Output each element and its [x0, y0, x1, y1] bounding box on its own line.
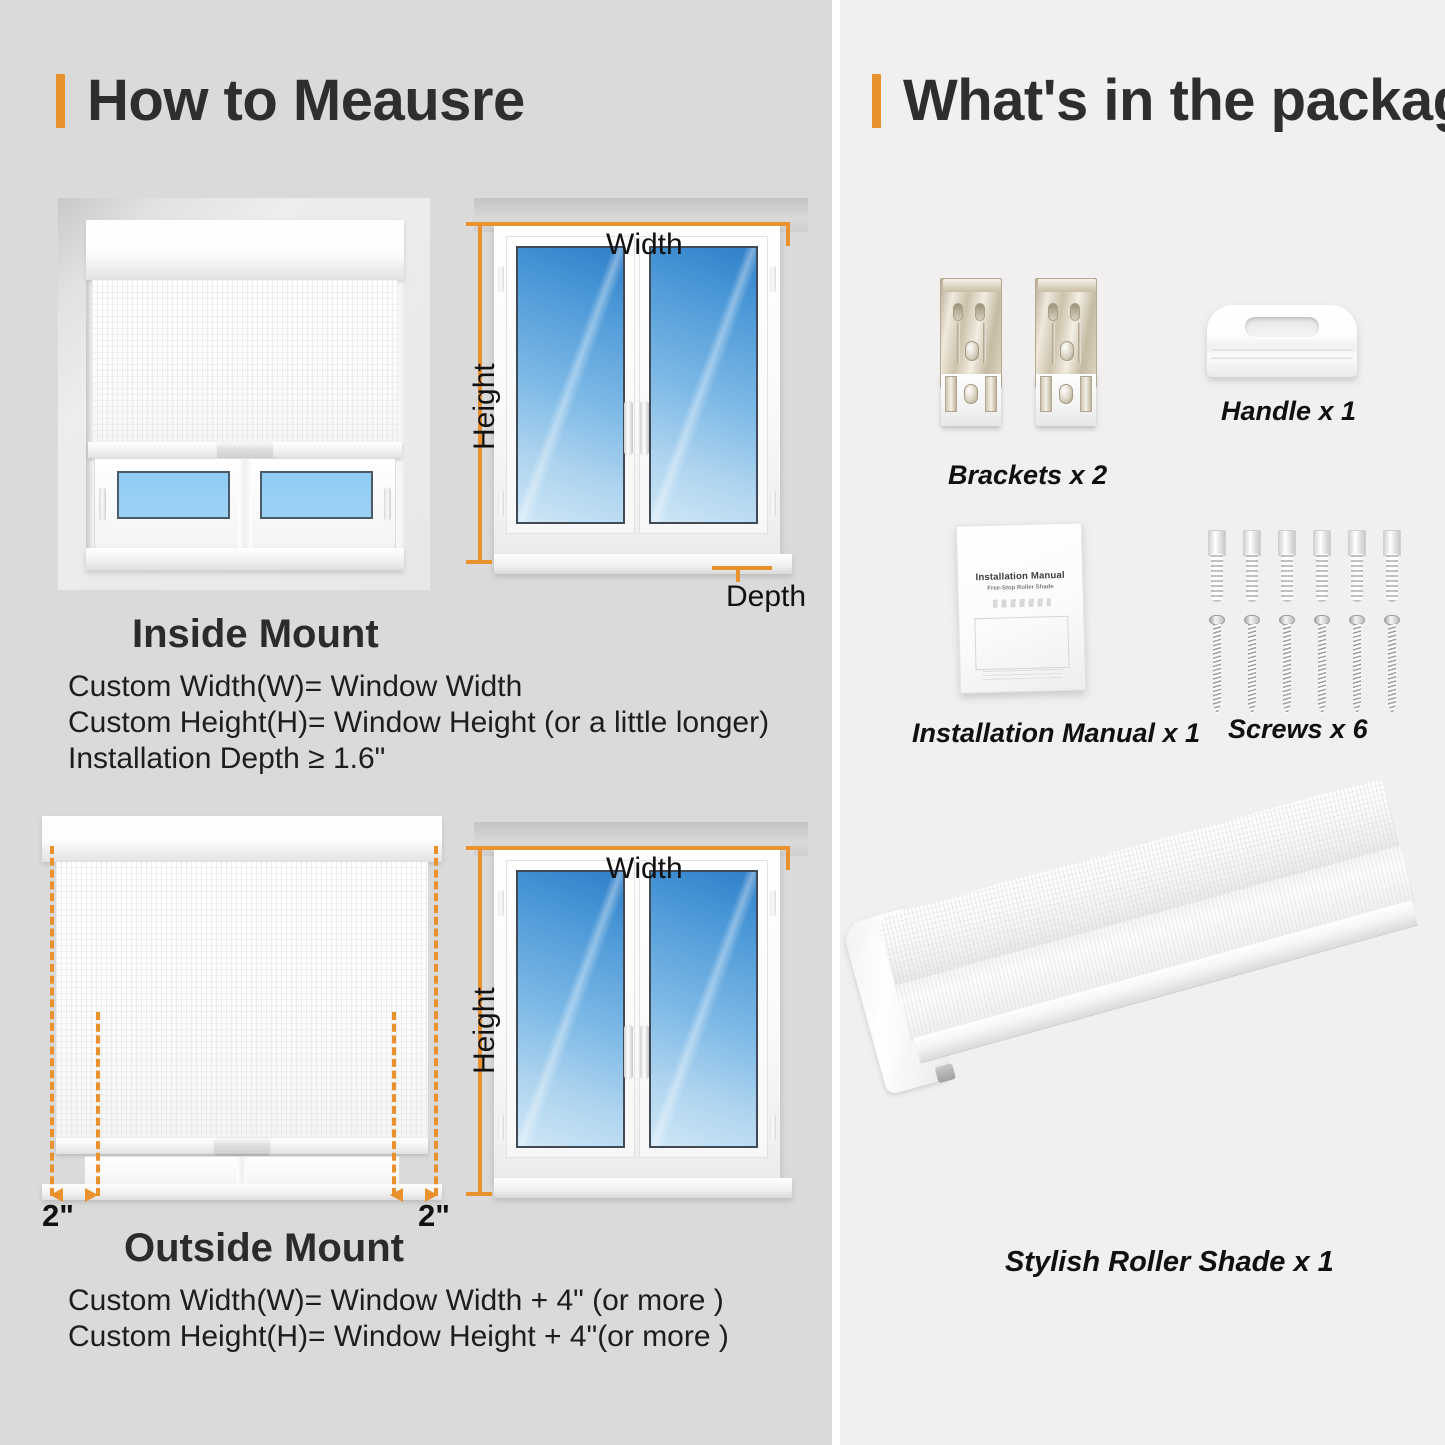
screw-head-4 — [1314, 615, 1330, 625]
inside-mount-line-1: Custom Width(W)= Window Width — [68, 670, 522, 704]
anchor-body-4 — [1316, 554, 1328, 602]
window-sash-left-outside — [506, 860, 635, 1158]
handle-part — [1207, 305, 1357, 377]
window-bottom-sill-outside — [494, 1178, 792, 1198]
shade-bottom-rail — [88, 442, 402, 458]
outside-shade-headrail — [42, 816, 442, 862]
roller-shade-label: Stylish Roller Shade x 1 — [1005, 1246, 1334, 1279]
manual-cover-title: Installation Manual — [958, 569, 1082, 583]
bracket-hole-1 — [965, 341, 979, 361]
manual-cover-figure-box — [974, 616, 1069, 670]
window-hinge-tl-outside — [498, 890, 504, 916]
width-measure-line — [478, 222, 790, 226]
window-pane-left — [516, 246, 625, 524]
height-cap-top-outside — [466, 846, 492, 850]
brackets-label: Brackets x 2 — [948, 460, 1107, 491]
shade-pull-tab — [218, 443, 272, 458]
height-label: Height — [468, 363, 502, 450]
bracket-arm-b1 — [983, 323, 986, 363]
screw-4 — [1314, 615, 1330, 715]
window-hinge-top-left — [498, 266, 504, 292]
installation-manual-label: Installation Manual x 1 — [912, 718, 1200, 749]
screw-shaft-2 — [1248, 624, 1256, 715]
bracket-body-1 — [940, 278, 1002, 388]
overhang-guide-left-inner — [96, 1012, 100, 1196]
accent-bar-icon-right — [872, 74, 881, 128]
window-mullion — [238, 459, 252, 549]
outside-mount-line-1: Custom Width(W)= Window Width + 4" (or m… — [68, 1284, 724, 1318]
height-measure-cap-bottom — [466, 560, 492, 564]
overhang-label-left: 2" — [42, 1198, 74, 1234]
wall-anchor-6 — [1383, 530, 1401, 602]
inside-mount-line-3: Installation Depth ≥ 1.6" — [68, 742, 385, 776]
width-label: Width — [606, 228, 683, 262]
anchor-head-3 — [1278, 530, 1296, 556]
anchor-head-2 — [1243, 530, 1261, 556]
window-casement-handle-left-outside — [624, 1024, 633, 1080]
infographic-page: How to Meausre — [0, 0, 1445, 1445]
bracket-slot-b1 — [975, 303, 985, 321]
screw-shaft-1 — [1213, 624, 1221, 715]
window-pane-right-outside — [649, 870, 758, 1148]
bracket-plate-hole-2 — [1059, 384, 1073, 404]
bracket-slot-a2 — [1048, 303, 1058, 321]
handle-ridge-1 — [1211, 349, 1353, 351]
bracket-plate-hole-1 — [964, 384, 978, 404]
how-to-measure-heading: How to Meausre — [56, 72, 525, 130]
anchor-head-5 — [1348, 530, 1366, 556]
anchor-body-3 — [1281, 554, 1293, 602]
window-hinge-tr-outside — [770, 890, 776, 916]
bracket-arm-b2 — [1078, 323, 1081, 363]
glass-pane-left — [117, 471, 230, 519]
bracket-body-2 — [1035, 278, 1097, 388]
accent-bar-icon — [56, 74, 65, 128]
depth-label: Depth — [726, 580, 806, 614]
window-handle-right — [384, 487, 391, 521]
window-hinge-top-right — [770, 266, 776, 292]
handle-grip-slot — [1245, 317, 1319, 337]
bracket-arm-a2 — [1052, 323, 1055, 363]
outside-shade-bottom-rail — [56, 1138, 428, 1154]
screw-shaft-3 — [1283, 624, 1291, 715]
overhang-guide-right-inner — [392, 1012, 396, 1196]
window-handle-left — [99, 487, 106, 521]
window-casement-handle-right-outside — [640, 1024, 649, 1080]
window-sash-right-outside — [639, 860, 768, 1158]
package-title: What's in the package — [903, 72, 1445, 130]
window-dimension-diagram-inside: Width Height Depth — [458, 198, 808, 598]
window-sill — [86, 548, 404, 570]
anchor-head-6 — [1383, 530, 1401, 556]
height-label-outside: Height — [468, 987, 502, 1074]
outside-window-mullion — [237, 1157, 247, 1185]
inside-mount-title: Inside Mount — [132, 612, 379, 657]
wall-anchor-5 — [1348, 530, 1366, 602]
handle-ridge-2 — [1211, 357, 1353, 359]
bracket-part-2 — [1035, 278, 1097, 428]
anchor-head-4 — [1313, 530, 1331, 556]
roller-shade-end-tip — [934, 1063, 956, 1083]
height-measure-cap-top — [466, 222, 492, 226]
revealed-window-frame — [94, 458, 396, 550]
installation-manual-part: Installation Manual Free-Stop Roller Sha… — [956, 522, 1086, 693]
window-outer-frame — [494, 224, 780, 556]
bracket-mount-plate-1 — [941, 374, 1001, 426]
screw-head-5 — [1349, 615, 1365, 625]
overhang-label-right: 2" — [418, 1198, 450, 1234]
window-pane-right — [649, 246, 758, 524]
anchor-body-5 — [1351, 554, 1363, 602]
bracket-slot-a1 — [953, 303, 963, 321]
how-to-measure-title: How to Meausre — [87, 72, 525, 130]
window-recess-inner — [86, 220, 404, 570]
screw-head-6 — [1384, 615, 1400, 625]
outside-revealed-window — [84, 1156, 400, 1186]
bracket-clip-right-1 — [985, 376, 997, 412]
outside-mount-line-2: Custom Height(H)= Window Height + 4"(or … — [68, 1320, 729, 1354]
width-measure-line-outside — [478, 846, 790, 850]
bracket-hole-2 — [1060, 341, 1074, 361]
window-casement-handle-left — [624, 400, 633, 456]
overhang-guide-right-outer — [434, 846, 438, 1196]
window-hinge-bottom-left — [498, 490, 504, 516]
screw-2 — [1244, 615, 1260, 715]
bracket-top-flange-1 — [943, 279, 1001, 292]
width-label-outside: Width — [606, 852, 683, 886]
outside-mount-title: Outside Mount — [124, 1226, 404, 1271]
screw-1 — [1209, 615, 1225, 715]
bracket-top-flange-2 — [1038, 279, 1096, 292]
outside-mount-shade-illustration — [42, 812, 442, 1204]
window-hinge-br-outside — [770, 1114, 776, 1140]
wall-anchor-1 — [1208, 530, 1226, 602]
outside-shade-fabric — [56, 862, 428, 1144]
window-bottom-sill — [494, 554, 792, 574]
anchor-head-1 — [1208, 530, 1226, 556]
screw-head-2 — [1244, 615, 1260, 625]
screw-6 — [1384, 615, 1400, 715]
height-cap-bottom-outside — [466, 1192, 492, 1196]
manual-cover-footer-text — [983, 668, 1063, 680]
width-measure-cap-right — [786, 222, 790, 246]
panel-divider — [832, 0, 840, 1445]
handle-label: Handle x 1 — [1221, 396, 1356, 427]
inside-mount-shade-illustration — [58, 198, 430, 590]
width-cap-right-outside — [786, 846, 790, 870]
outside-window-sill — [42, 1184, 442, 1200]
screw-head-1 — [1209, 615, 1225, 625]
wall-anchor-4 — [1313, 530, 1331, 602]
bracket-mount-plate-2 — [1036, 374, 1096, 426]
inside-mount-line-2: Custom Height(H)= Window Height (or a li… — [68, 706, 769, 740]
shade-fabric — [92, 280, 398, 455]
manual-cover-subtitle: Free-Stop Roller Shade — [958, 583, 1082, 592]
bracket-part-1 — [940, 278, 1002, 428]
bracket-arm-a1 — [957, 323, 960, 363]
bracket-clip-right-2 — [1080, 376, 1092, 412]
shade-headrail — [86, 220, 404, 280]
screw-shaft-5 — [1353, 624, 1361, 715]
anchor-body-6 — [1386, 554, 1398, 602]
wall-anchor-2 — [1243, 530, 1261, 602]
window-sash-left — [506, 236, 635, 534]
screw-head-3 — [1279, 615, 1295, 625]
window-casement-handle-right — [640, 400, 649, 456]
screws-label: Screws x 6 — [1228, 714, 1368, 745]
anchor-body-1 — [1211, 554, 1223, 602]
anchor-body-2 — [1246, 554, 1258, 602]
manual-cover-scribble — [993, 598, 1051, 608]
screw-shaft-4 — [1318, 624, 1326, 715]
package-heading: What's in the package — [872, 72, 1445, 130]
glass-pane-right — [260, 471, 373, 519]
outside-shade-pull-tab — [215, 1139, 269, 1154]
window-outer-frame-outside — [494, 848, 780, 1180]
overhang-guide-left-outer — [50, 846, 54, 1196]
screw-3 — [1279, 615, 1295, 715]
depth-measure-line — [712, 566, 772, 570]
bracket-slot-b2 — [1070, 303, 1080, 321]
bracket-clip-left-2 — [1040, 376, 1052, 412]
window-hinge-bl-outside — [498, 1114, 504, 1140]
window-sash-right — [639, 236, 768, 534]
screw-shaft-6 — [1388, 624, 1396, 715]
roller-shade-product-image — [895, 880, 1445, 1210]
wall-anchor-3 — [1278, 530, 1296, 602]
bracket-clip-left-1 — [945, 376, 957, 412]
screw-5 — [1349, 615, 1365, 715]
window-pane-left-outside — [516, 870, 625, 1148]
window-hinge-bottom-right — [770, 490, 776, 516]
window-dimension-diagram-outside: Width Height — [458, 822, 808, 1222]
